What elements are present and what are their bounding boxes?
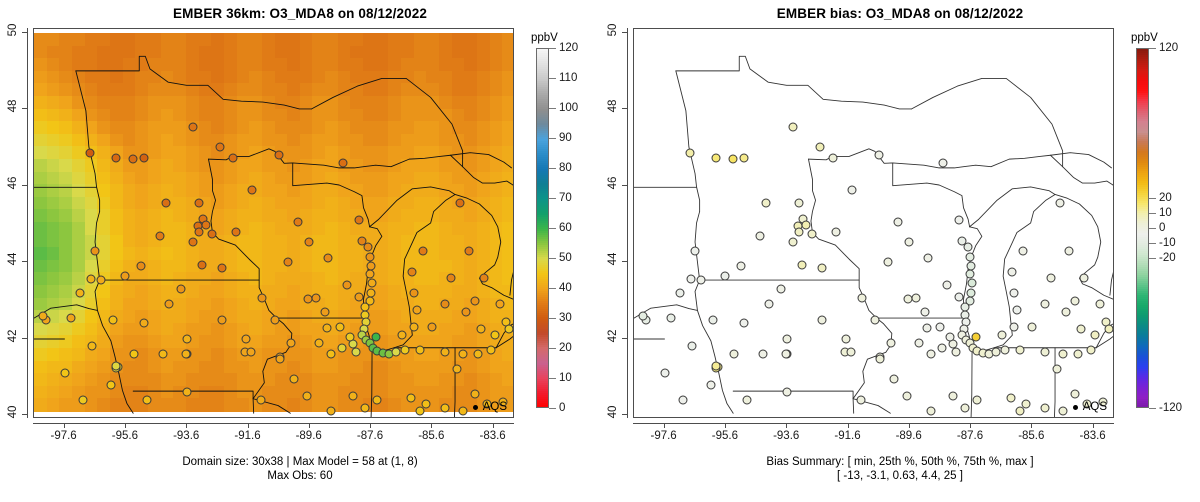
colorbar-tick <box>549 138 556 139</box>
colorbar-tick-label: 100 <box>559 102 578 114</box>
colorbar-tick <box>549 78 556 79</box>
colorbar-tick <box>1149 48 1156 49</box>
colorbar-tick-label: 120 <box>559 42 578 54</box>
colorbar-tick <box>549 108 556 109</box>
panel-model: EMBER 36km: O3_MDA8 on 08/12/2022 AQS -9… <box>0 0 600 502</box>
colorbar-segment <box>1137 407 1148 408</box>
colorbar-tick <box>549 258 556 259</box>
colorbar-tick-label: 0 <box>559 402 565 414</box>
colorbar-tick <box>549 228 556 229</box>
colorbar-model: ppbV 1201101009080706050403020100 <box>0 0 600 502</box>
colorbar-tick-label: 0 <box>1159 222 1165 234</box>
panel-bias: EMBER bias: O3_MDA8 on 08/12/2022 AQS -9… <box>600 0 1200 502</box>
colorbar-tick-label: 10 <box>1159 207 1172 219</box>
colorbar-tick <box>1149 198 1156 199</box>
colorbar-tick <box>549 378 556 379</box>
colorbar-tick-label: 120 <box>1159 42 1178 54</box>
colorbar-tick <box>549 318 556 319</box>
colorbar-tick-label: 10 <box>559 372 572 384</box>
colorbar-tick-label: 70 <box>559 192 572 204</box>
colorbar-tick-label: 20 <box>559 342 572 354</box>
colorbar-tick-label: -120 <box>1159 402 1182 414</box>
colorbar-tick <box>549 288 556 289</box>
colorbar-tick-label: 30 <box>559 312 572 324</box>
colorbar-segment <box>537 407 548 408</box>
colorbar-tick-label: 60 <box>559 222 572 234</box>
colorbar-bias: ppbV 12020100-10-20-120 <box>600 0 1200 502</box>
colorbar-title: ppbV <box>1131 32 1158 44</box>
colorbar-tick <box>1149 408 1156 409</box>
colorbar-tick-label: 80 <box>559 162 572 174</box>
colorbar-tick-label: -20 <box>1159 252 1176 264</box>
colorbar-tick <box>549 168 556 169</box>
colorbar-tick-label: 20 <box>1159 192 1172 204</box>
colorbar-gradient <box>536 48 549 408</box>
colorbar-title: ppbV <box>531 32 558 44</box>
figure-root: EMBER 36km: O3_MDA8 on 08/12/2022 AQS -9… <box>0 0 1200 502</box>
colorbar-gradient <box>1136 48 1149 408</box>
colorbar-tick-label: 40 <box>559 282 572 294</box>
colorbar-tick <box>1149 258 1156 259</box>
colorbar-tick <box>549 48 556 49</box>
colorbar-tick <box>1149 213 1156 214</box>
colorbar-tick <box>1149 228 1156 229</box>
colorbar-tick <box>549 408 556 409</box>
colorbar-tick-label: 110 <box>559 72 577 84</box>
colorbar-tick-label: -10 <box>1159 237 1176 249</box>
colorbar-tick <box>549 198 556 199</box>
colorbar-tick <box>549 348 556 349</box>
colorbar-tick-label: 50 <box>559 252 572 264</box>
colorbar-tick <box>1149 243 1156 244</box>
colorbar-tick-label: 90 <box>559 132 572 144</box>
